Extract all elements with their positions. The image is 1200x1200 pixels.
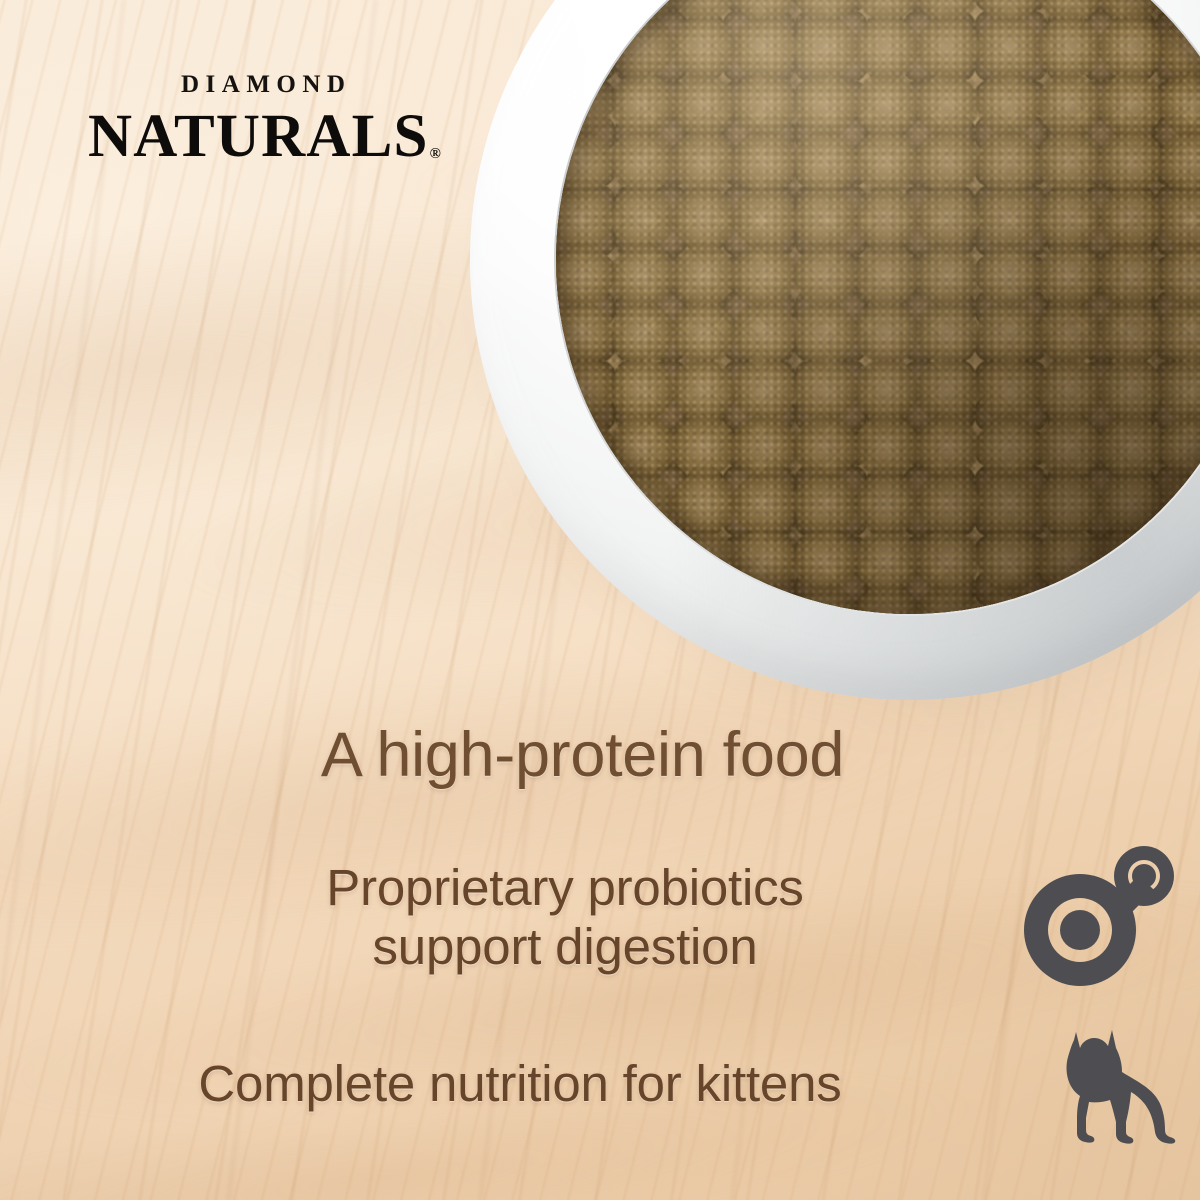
brand-name-main: NATURALS® xyxy=(88,105,441,169)
brand-name-top: DIAMOND xyxy=(88,72,438,97)
product-marketing-image: DIAMOND NATURALS® A high-protein food Pr… xyxy=(0,0,1200,1200)
kibble-pile xyxy=(556,0,1200,614)
registered-trademark-icon: ® xyxy=(430,146,441,162)
brand-logo: DIAMOND NATURALS® xyxy=(88,72,438,169)
probiotic-cell-icon xyxy=(1008,836,1184,1012)
kitten-silhouette-icon xyxy=(1046,1022,1178,1146)
brand-name-main-text: NATURALS xyxy=(88,103,429,170)
